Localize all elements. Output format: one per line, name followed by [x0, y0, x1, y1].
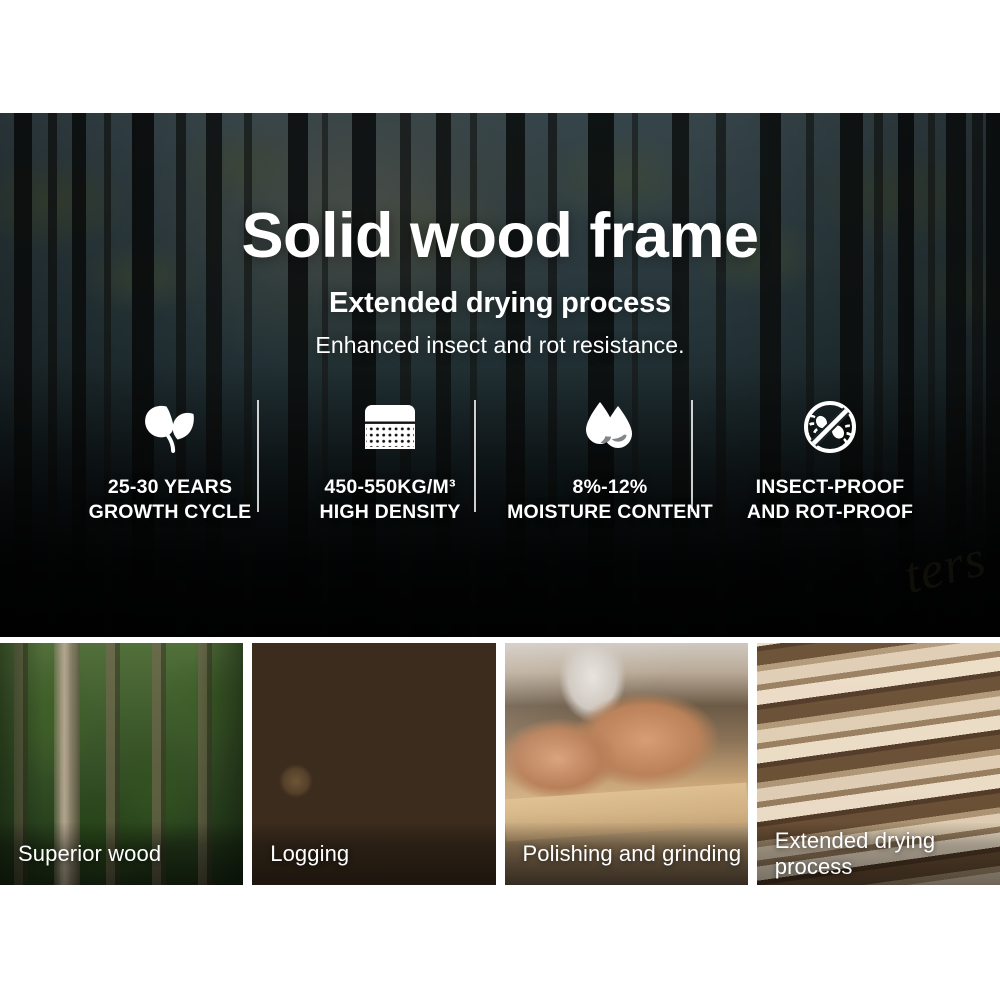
water-droplets-icon	[580, 396, 640, 458]
no-insect-icon	[802, 396, 858, 458]
product-feature-banner: ters Solid wood frame Extended drying pr…	[0, 0, 1000, 1000]
feature-line-2: AND ROT-PROOF	[747, 500, 913, 525]
hero-tagline: Enhanced insect and rot resistance.	[0, 320, 1000, 359]
feature-insect-proof: INSECT-PROOF AND ROT-PROOF	[720, 396, 940, 525]
density-block-icon	[362, 396, 418, 458]
card-polishing-and-grinding[interactable]: Polishing and grinding	[505, 643, 748, 885]
feature-line-1: INSECT-PROOF	[747, 475, 913, 500]
card-caption: Polishing and grinding	[505, 823, 748, 885]
feature-growth-cycle: 25-30 YEARS GROWTH CYCLE	[60, 396, 280, 525]
feature-line-2: GROWTH CYCLE	[89, 500, 252, 525]
card-logging[interactable]: Logging	[252, 643, 495, 885]
card-caption: Superior wood	[0, 823, 243, 885]
card-caption: Extended drying process	[757, 823, 1000, 885]
card-caption: Logging	[252, 823, 495, 885]
hero-subtitle: Extended drying process	[0, 269, 1000, 320]
feature-line-1: 8%-12%	[507, 475, 713, 500]
feature-line-2: MOISTURE CONTENT	[507, 500, 713, 525]
feature-line-1: 450-550KG/M³	[319, 475, 460, 500]
leaf-sprout-icon	[141, 396, 199, 458]
hero-banner: ters Solid wood frame Extended drying pr…	[0, 113, 1000, 637]
feature-label: 25-30 YEARS GROWTH CYCLE	[89, 475, 252, 525]
feature-line-2: HIGH DENSITY	[319, 500, 460, 525]
hero-title: Solid wood frame	[0, 113, 1000, 269]
feature-label: 450-550KG/M³ HIGH DENSITY	[319, 475, 460, 525]
card-extended-drying-process[interactable]: Extended drying process	[757, 643, 1000, 885]
process-image-cards: Superior wood Logging Polishing and grin…	[0, 643, 1000, 885]
hero-copy: Solid wood frame Extended drying process…	[0, 113, 1000, 359]
feature-stats-strip: 25-30 YEARS GROWTH CYCLE	[60, 396, 940, 525]
feature-high-density: 450-550KG/M³ HIGH DENSITY	[280, 396, 500, 525]
card-superior-wood[interactable]: Superior wood	[0, 643, 243, 885]
feature-label: 8%-12% MOISTURE CONTENT	[507, 475, 713, 525]
feature-moisture-content: 8%-12% MOISTURE CONTENT	[500, 396, 720, 525]
feature-line-1: 25-30 YEARS	[89, 475, 252, 500]
feature-label: INSECT-PROOF AND ROT-PROOF	[747, 475, 913, 525]
